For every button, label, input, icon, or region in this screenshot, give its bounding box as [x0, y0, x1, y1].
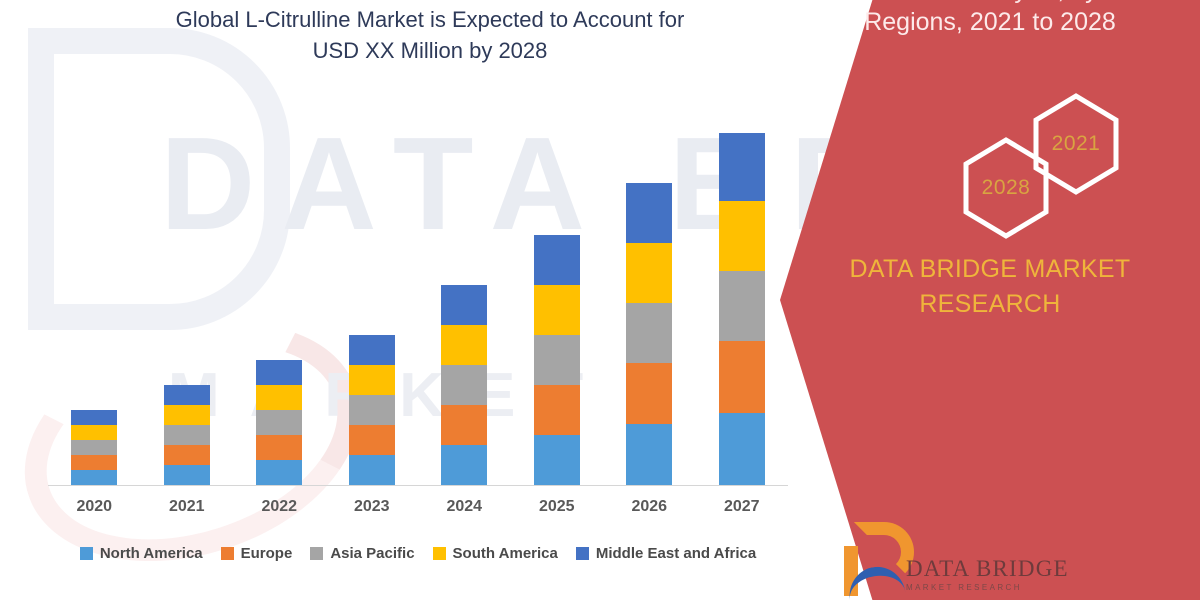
dbmr-logo-wordmark: DATA BRIDGE MARKET RESEARCH: [906, 556, 1069, 592]
stacked-bar-series: [48, 100, 788, 485]
chart-plot-area: 20202021202220232024202520262027: [0, 0, 830, 600]
x-axis-line: [48, 485, 788, 486]
bar-segment: [256, 435, 302, 460]
bar-segment: [626, 424, 672, 485]
bar-segment: [626, 183, 672, 243]
dbmr-logo: DATA BRIDGE MARKET RESEARCH: [840, 542, 1090, 600]
dbmr-logo-name: DATA BRIDGE: [906, 556, 1069, 581]
right-panel-heading-line-1: Market Analysis, by: [796, 0, 1184, 6]
bar-column: [719, 133, 765, 485]
bar-segment: [534, 235, 580, 285]
x-axis-labels: 20202021202220232024202520262027: [48, 498, 788, 522]
bar-segment: [71, 410, 117, 425]
bar-segment: [71, 440, 117, 455]
bar-segment: [626, 303, 672, 363]
brand-name: DATA BRIDGE MARKET RESEARCH: [780, 252, 1200, 321]
legend-swatch-icon: [576, 547, 589, 560]
brand-name-line-2: RESEARCH: [820, 287, 1160, 322]
legend-swatch-icon: [221, 547, 234, 560]
bar-segment: [441, 445, 487, 485]
x-axis-label: 2024: [419, 498, 509, 516]
x-axis-label: 2026: [604, 498, 694, 516]
right-panel-heading: Market Analysis, by Regions, 2021 to 202…: [780, 0, 1200, 38]
bar-segment: [534, 285, 580, 335]
bar-segment: [719, 413, 765, 485]
bar-column: [256, 360, 302, 485]
bar-segment: [441, 285, 487, 325]
x-axis-label: 2027: [697, 498, 787, 516]
bar-column: [349, 335, 395, 485]
bar-segment: [71, 425, 117, 440]
legend-label: Middle East and Africa: [596, 545, 756, 562]
infographic-canvas: DATA BRIDGE MARKET Global L-Citrulline M…: [0, 0, 1200, 600]
legend-swatch-icon: [80, 547, 93, 560]
bar-segment: [719, 341, 765, 413]
bar-segment: [164, 445, 210, 465]
bar-segment: [719, 271, 765, 341]
legend-label: South America: [453, 545, 558, 562]
hexagon-badge-2028-label: 2028: [960, 136, 1052, 240]
bar-segment: [71, 455, 117, 470]
legend-label: North America: [100, 545, 203, 562]
bar-column: [534, 235, 580, 485]
brand-name-line-1: DATA BRIDGE MARKET: [820, 252, 1160, 287]
bar-column: [441, 285, 487, 485]
x-axis-label: 2025: [512, 498, 602, 516]
bar-segment: [164, 405, 210, 425]
legend-label: Europe: [241, 545, 293, 562]
bar-segment: [349, 365, 395, 395]
bar-segment: [441, 365, 487, 405]
x-axis-label: 2020: [49, 498, 139, 516]
legend-item[interactable]: South America: [433, 545, 558, 562]
legend-item[interactable]: Europe: [221, 545, 293, 562]
x-axis-label: 2021: [142, 498, 232, 516]
bar-column: [626, 183, 672, 485]
dbmr-logo-mark-icon: [840, 544, 898, 600]
chart-legend: North AmericaEuropeAsia PacificSouth Ame…: [48, 540, 788, 566]
bar-segment: [349, 455, 395, 485]
bar-segment: [71, 470, 117, 485]
legend-swatch-icon: [433, 547, 446, 560]
bar-column: [164, 385, 210, 485]
bar-segment: [164, 465, 210, 485]
legend-item[interactable]: Middle East and Africa: [576, 545, 756, 562]
legend-label: Asia Pacific: [330, 545, 414, 562]
bar-segment: [256, 360, 302, 385]
bar-segment: [164, 425, 210, 445]
bar-segment: [349, 335, 395, 365]
bar-segment: [626, 363, 672, 424]
bar-segment: [441, 325, 487, 365]
right-panel-heading-line-2: Regions, 2021 to 2028: [796, 6, 1184, 38]
hexagon-badge-2028: 2028: [960, 136, 1052, 240]
bar-segment: [626, 243, 672, 303]
bar-segment: [256, 460, 302, 485]
legend-item[interactable]: Asia Pacific: [310, 545, 414, 562]
x-axis-label: 2023: [327, 498, 417, 516]
x-axis-label: 2022: [234, 498, 324, 516]
legend-item[interactable]: North America: [80, 545, 203, 562]
bar-segment: [534, 435, 580, 485]
bar-segment: [256, 385, 302, 410]
bar-segment: [349, 425, 395, 455]
dbmr-logo-tagline: MARKET RESEARCH: [906, 583, 1069, 592]
bar-segment: [719, 133, 765, 201]
bar-segment: [164, 385, 210, 405]
bar-segment: [534, 335, 580, 385]
bar-segment: [349, 395, 395, 425]
bar-segment: [719, 201, 765, 271]
hexagon-badges: 2021 2028: [908, 92, 1128, 227]
bar-segment: [256, 410, 302, 435]
bar-column: [71, 410, 117, 485]
legend-swatch-icon: [310, 547, 323, 560]
bar-segment: [441, 405, 487, 445]
bar-segment: [534, 385, 580, 435]
